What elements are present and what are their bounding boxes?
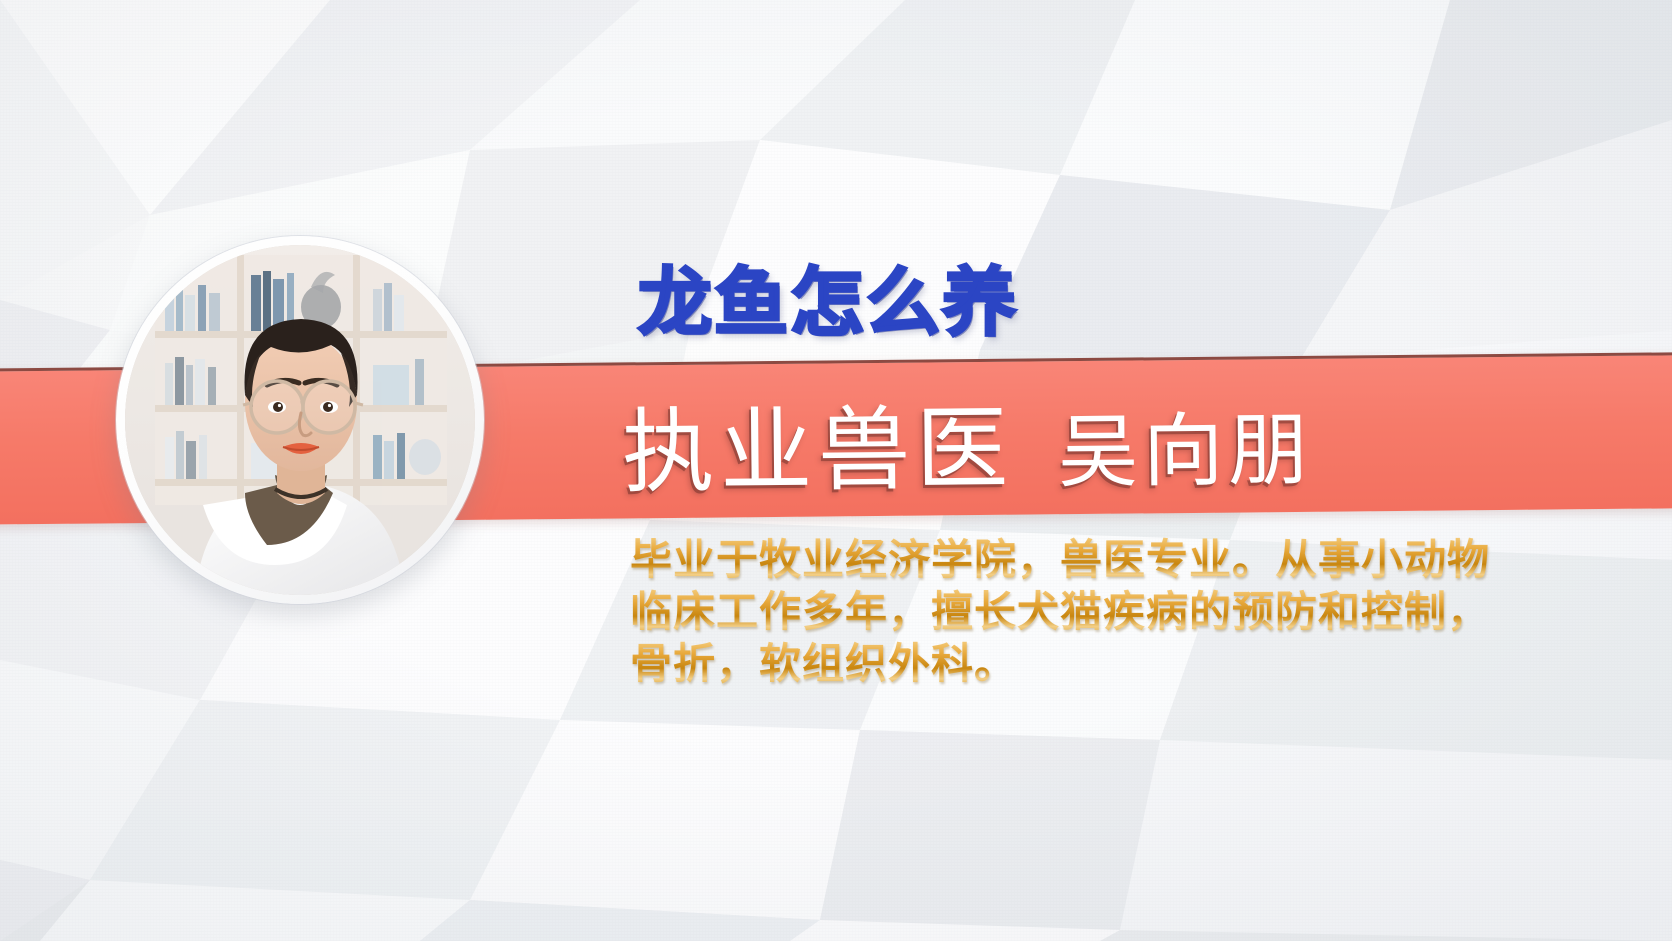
avatar-photo <box>125 245 475 595</box>
avatar <box>116 236 484 604</box>
expert-name: 吴向朋 <box>1057 385 1313 503</box>
role-credential: 执业兽医 <box>621 374 1014 511</box>
bio-line: 骨折，软组织外科。 <box>630 638 1490 690</box>
page-title: 龙鱼怎么养 <box>638 243 1018 350</box>
bio-line: 临床工作多年，擅长犬猫疾病的预防和控制， <box>630 586 1490 638</box>
role-banner-text: 执业兽医 吴向朋 <box>621 371 1313 511</box>
slide-canvas: 龙鱼怎么养 执业兽医 吴向朋 毕业于牧业经济学院，兽医专业。从事小动物 临床工作… <box>0 0 1672 941</box>
bio-line: 毕业于牧业经济学院，兽医专业。从事小动物 <box>630 534 1490 586</box>
bio-block: 毕业于牧业经济学院，兽医专业。从事小动物 临床工作多年，擅长犬猫疾病的预防和控制… <box>630 534 1490 690</box>
